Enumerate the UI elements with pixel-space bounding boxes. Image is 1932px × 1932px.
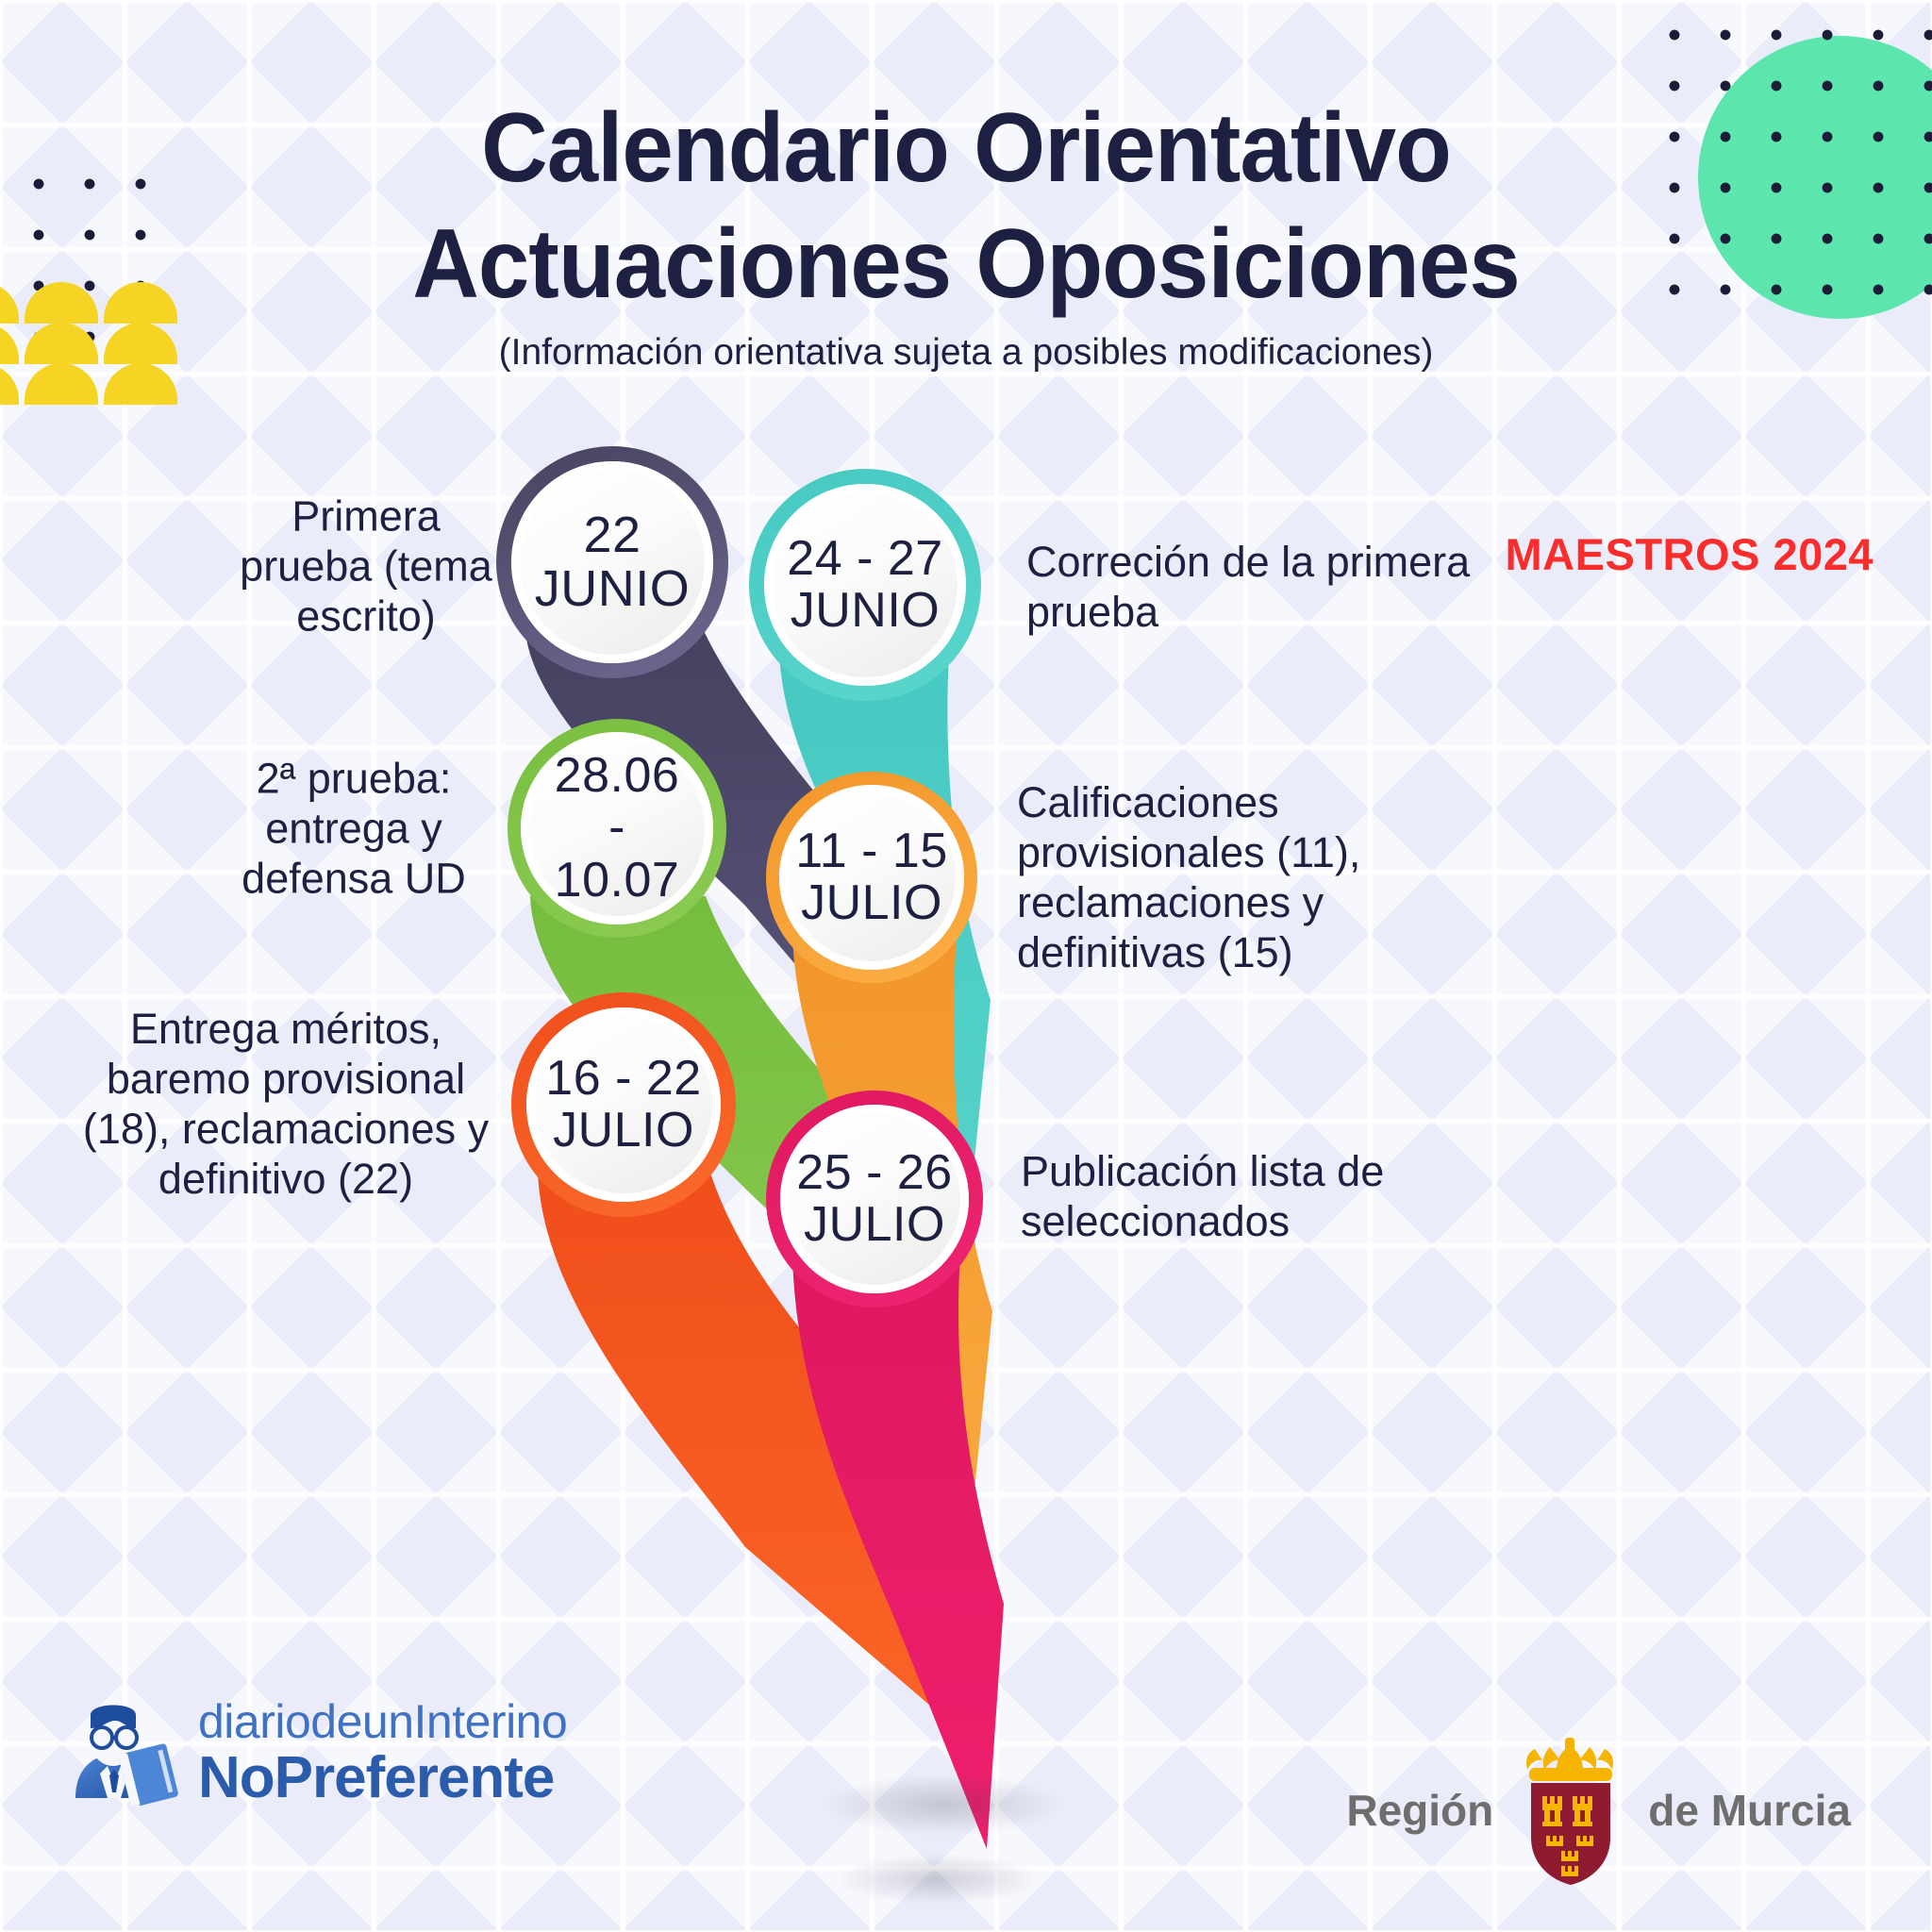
pin-date-line-2: JUNIO [791, 585, 941, 637]
blog-logo-line-1: diariodeunInterino [198, 1698, 567, 1745]
pin-date-line-1: 24 - 27 [787, 533, 942, 585]
timeline-label-calificaciones: Calificaciones provisionales (11), recla… [1017, 777, 1507, 977]
timeline-label-entrega-meritos: Entrega méritos, baremo provisional (18)… [74, 1004, 498, 1204]
pin-date-line-2: JUNIO [535, 562, 691, 616]
pin-shadow [823, 1774, 1064, 1836]
region-de-murcia-logo: Región [1346, 1734, 1851, 1887]
pin-bubble-publicacion-lista[interactable]: 25 - 26 JULIO [780, 1105, 969, 1293]
murcia-crest-icon [1518, 1734, 1624, 1887]
murcia-label-de-murcia: de Murcia [1648, 1785, 1851, 1836]
pin-date-line-2: - [608, 802, 625, 854]
timeline-label-primera-prueba: Primera prueba (tema escrito) [234, 491, 498, 641]
pin-date-line-2: JULIO [553, 1105, 694, 1157]
pin-date-line-1: 16 - 22 [545, 1053, 701, 1105]
pin-bubble-calificaciones[interactable]: 11 - 15 JULIO [779, 785, 964, 970]
murcia-label-region: Región [1346, 1785, 1493, 1836]
pin-bubble-entrega-meritos[interactable]: 16 - 22 JULIO [526, 1008, 721, 1202]
pin-date-line-2: JULIO [801, 877, 942, 929]
pin-date-line-1: 28.06 [555, 750, 680, 802]
pin-date-line-2: JULIO [804, 1199, 945, 1251]
tail-publicacion-lista [792, 1255, 1004, 1849]
pin-bubble-primera-prueba[interactable]: 22 JUNIO [511, 461, 713, 663]
timeline: 22 JUNIO Primera prueba (tema escrito) 2… [0, 0, 1932, 1932]
pin-bubble-correccion[interactable]: 24 - 27 JUNIO [764, 484, 966, 686]
blog-logo[interactable]: diariodeunInterino NoPreferente [66, 1698, 567, 1807]
timeline-label-correccion: Correción de la primera prueba [1026, 537, 1517, 637]
pin-bubble-segunda-prueba[interactable]: 28.06 - 10.07 [521, 732, 713, 924]
pin-date-line-1: 22 [583, 508, 641, 562]
pin-date-line-3: 10.07 [555, 855, 680, 907]
pin-shadow [834, 1854, 1041, 1905]
interino-avatar-icon [66, 1700, 181, 1806]
pin-date-line-1: 11 - 15 [795, 825, 948, 877]
timeline-tails [0, 0, 1932, 1932]
pin-date-line-1: 25 - 26 [796, 1147, 952, 1199]
blog-logo-line-2: NoPreferente [198, 1749, 567, 1807]
timeline-label-segunda-prueba: 2ª prueba: entrega y defensa UD [198, 753, 509, 903]
timeline-label-publicacion-lista: Publicación lista de seleccionados [1021, 1146, 1492, 1246]
